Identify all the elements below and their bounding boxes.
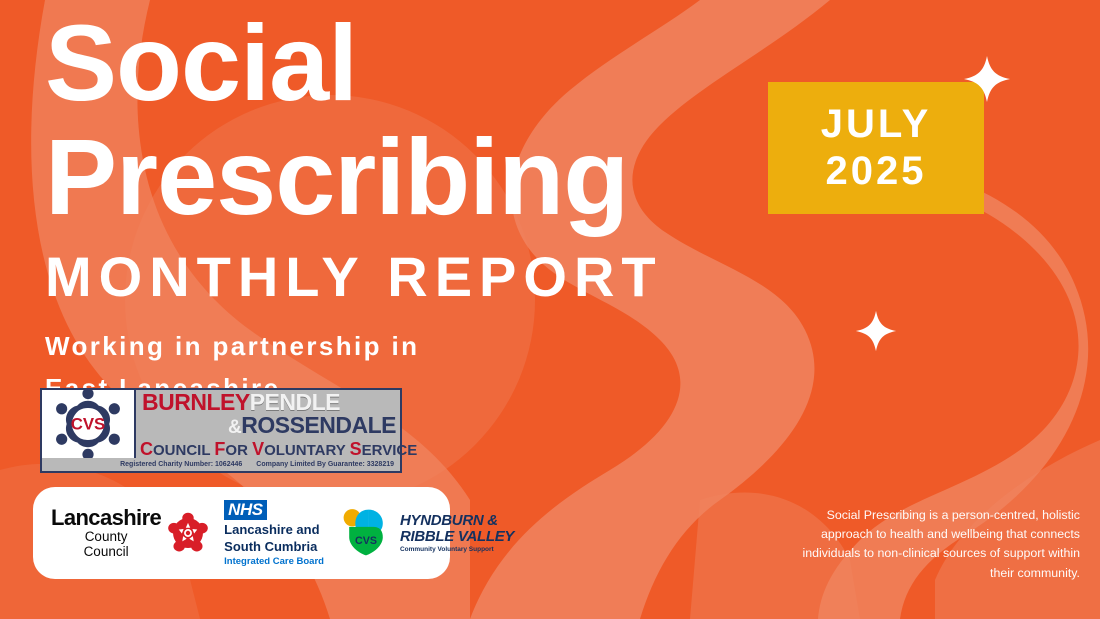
partnership-line-1: Working in partnership in bbox=[45, 331, 805, 362]
cvs-hrv-mark-icon: CVS bbox=[338, 507, 394, 559]
partner-logo-lancashire-county-council: Lancashire County Council bbox=[51, 507, 210, 559]
cvs-people-circle-icon: CVS bbox=[42, 390, 136, 458]
cvs-mark-label: CVS bbox=[71, 415, 106, 434]
partner-logo-cvs-hyndburn-ribble-valley: CVS HYNDBURN & RIBBLE VALLEY Community V… bbox=[338, 507, 514, 559]
cvs-charity-number: Registered Charity Number: 1062446 bbox=[120, 461, 242, 468]
cvs-logo-wordmark: BURNLEYPENDLE &ROSSENDALE COUNCIL FOR VO… bbox=[136, 390, 400, 458]
nhs-name-line3: Integrated Care Board bbox=[224, 557, 324, 567]
nhs-name-line1: Lancashire and bbox=[224, 523, 324, 538]
date-badge-month: JULY bbox=[821, 101, 932, 148]
lcc-name-big: Lancashire bbox=[51, 507, 161, 529]
date-badge: JULY 2025 bbox=[768, 82, 984, 214]
lcc-name-line3: Council bbox=[51, 544, 161, 559]
page-subtitle: MONTHLY REPORT bbox=[45, 244, 805, 309]
partner-logo-nhs-lancashire-south-cumbria: NHS Lancashire and South Cumbria Integra… bbox=[224, 500, 324, 567]
cvs-hrv-text: HYNDBURN & RIBBLE VALLEY Community Volun… bbox=[400, 513, 514, 553]
lancashire-rose-icon bbox=[166, 511, 210, 555]
cvs-company-number: Company Limited By Guarantee: 3328219 bbox=[256, 461, 394, 468]
page-title-line1: Social bbox=[45, 8, 805, 118]
cvs-title-rossendale: ROSSENDALE bbox=[241, 412, 396, 438]
cvs-title-line1: BURNLEYPENDLE bbox=[142, 392, 396, 414]
cvs-logo-top: CVS BURNLEYPENDLE &ROSSENDALE COUNCIL FO… bbox=[42, 390, 400, 458]
cvs-title-ampersand: & bbox=[228, 417, 241, 438]
cvs-hrv-name-line1: HYNDBURN & bbox=[400, 513, 514, 529]
headline-block: Social Prescribing MONTHLY REPORT Workin… bbox=[45, 8, 805, 404]
cvs-hrv-name-line3: Community Voluntary Support bbox=[400, 547, 514, 554]
date-badge-year: 2025 bbox=[826, 148, 927, 195]
lcc-name-line2: County bbox=[51, 529, 161, 544]
social-prescribing-report-cover: Social Prescribing MONTHLY REPORT Workin… bbox=[0, 0, 1100, 619]
page-title-line2: Prescribing bbox=[45, 122, 805, 232]
cvs-title-line2: &ROSSENDALE bbox=[140, 415, 396, 437]
cvs-hrv-name-line2: RIBBLE VALLEY bbox=[400, 529, 514, 545]
nhs-badge: NHS bbox=[224, 500, 266, 520]
cvs-hrv-mark-label: CVS bbox=[355, 535, 377, 547]
description-text: Social Prescribing is a person-centred, … bbox=[802, 506, 1080, 583]
lcc-text: Lancashire County Council bbox=[51, 507, 161, 559]
cvs-title-burnley: BURNLEY bbox=[142, 389, 250, 415]
nhs-name-line2: South Cumbria bbox=[224, 540, 324, 555]
cvs-strapline: COUNCIL FOR VOLUNTARY SERVICE bbox=[140, 440, 396, 458]
partner-logos-bar: Lancashire County Council bbox=[33, 487, 450, 579]
cvs-logo-footer: Registered Charity Number: 1062446 Compa… bbox=[42, 458, 400, 471]
cvs-burnley-pendle-rossendale-logo: CVS BURNLEYPENDLE &ROSSENDALE COUNCIL FO… bbox=[40, 388, 402, 473]
